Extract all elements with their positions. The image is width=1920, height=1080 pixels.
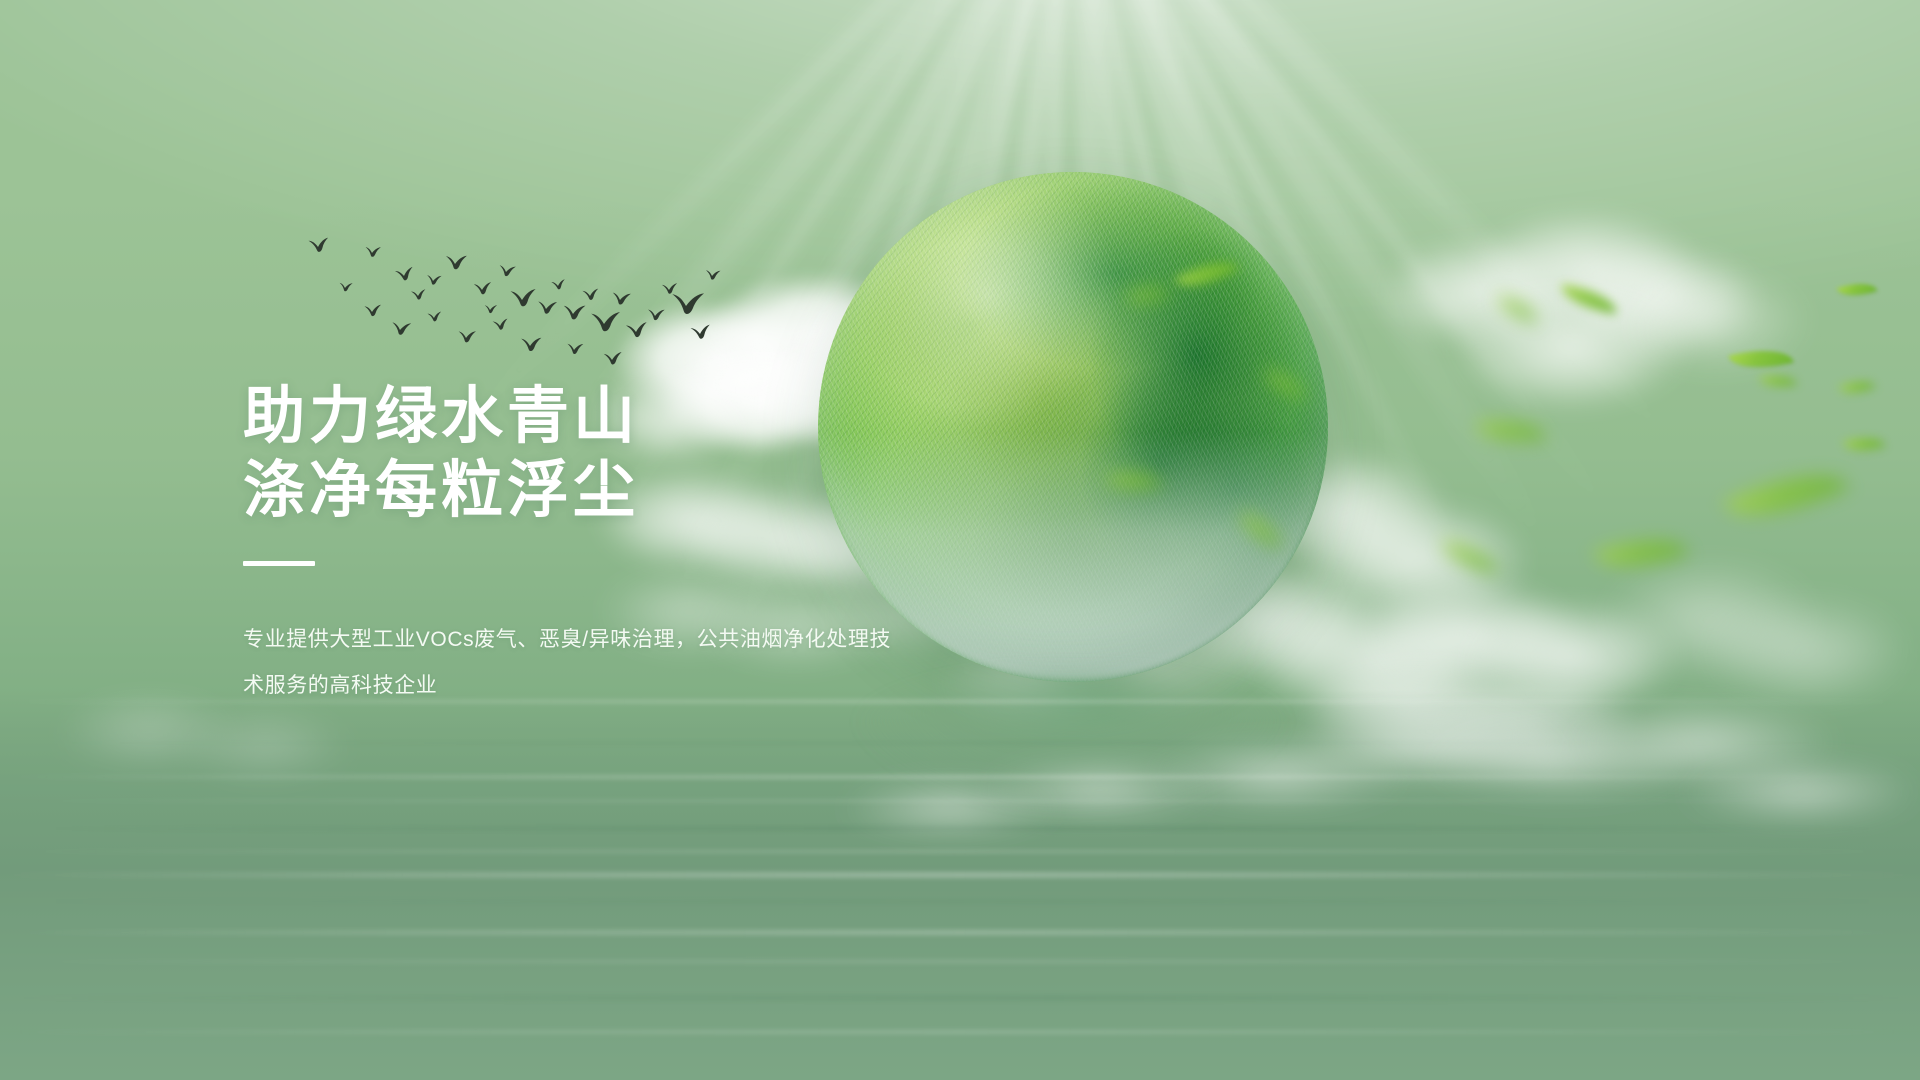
water-ripple bbox=[0, 930, 1920, 935]
water-mist bbox=[840, 780, 1060, 836]
hero-banner: 助力绿水青山 涤净每粒浮尘 专业提供大型工业VOCs废气、恶臭/异味治理，公共油… bbox=[0, 0, 1920, 1080]
water-ripple bbox=[0, 995, 1920, 1001]
water-ripple bbox=[0, 900, 1920, 903]
page-title: 助力绿水青山 涤净每粒浮尘 bbox=[243, 380, 963, 528]
banner-copy: 助力绿水青山 涤净每粒浮尘 专业提供大型工业VOCs废气、恶臭/异味治理，公共油… bbox=[243, 380, 963, 709]
water-ripple bbox=[0, 1030, 1920, 1034]
water-ripple bbox=[0, 872, 1920, 878]
water-mist bbox=[1680, 760, 1920, 824]
water-ripple bbox=[0, 960, 1920, 963]
title-divider bbox=[243, 561, 315, 566]
headline-line-1: 助力绿水青山 bbox=[243, 380, 963, 454]
headline-line-2: 涤净每粒浮尘 bbox=[243, 454, 963, 528]
banner-subtitle: 专业提供大型工业VOCs废气、恶臭/异味治理，公共油烟净化处理技术服务的高科技企… bbox=[243, 617, 903, 709]
water-ripple bbox=[0, 850, 1920, 853]
